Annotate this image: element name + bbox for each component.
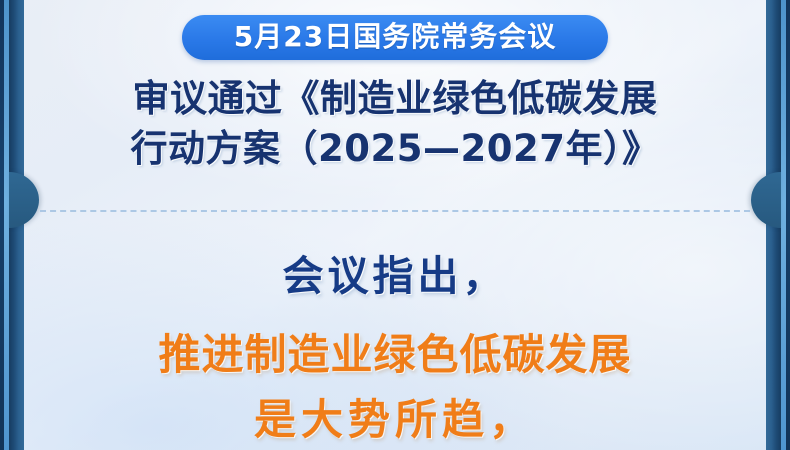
poster-content: 5月23日国务院常务会议 审议通过《制造业绿色低碳发展 行动方案（2025—20… bbox=[26, 0, 764, 450]
right-decorative-rail bbox=[764, 0, 790, 450]
title-line-2: 行动方案（2025—2027年）》 bbox=[26, 124, 764, 174]
poster-canvas: 5月23日国务院常务会议 审议通过《制造业绿色低碳发展 行动方案（2025—20… bbox=[0, 0, 790, 450]
poster-title: 审议通过《制造业绿色低碳发展 行动方案（2025—2027年）》 bbox=[26, 74, 764, 175]
highlight-line-2: 是大势所趋， bbox=[26, 387, 764, 450]
lede-text: 会议指出， bbox=[26, 252, 764, 300]
dashed-divider bbox=[40, 210, 750, 212]
right-rail-light-edge bbox=[781, 0, 786, 450]
meeting-date-badge: 5月23日国务院常务会议 bbox=[182, 15, 608, 60]
title-line-1: 审议通过《制造业绿色低碳发展 bbox=[26, 74, 764, 124]
highlight-text: 推进制造业绿色低碳发展 是大势所趋， bbox=[26, 322, 764, 450]
highlight-line-1: 推进制造业绿色低碳发展 bbox=[26, 322, 764, 387]
badge-row: 5月23日国务院常务会议 bbox=[26, 15, 764, 60]
left-decorative-rail bbox=[0, 0, 26, 450]
right-rail-dark-edge bbox=[786, 0, 790, 450]
